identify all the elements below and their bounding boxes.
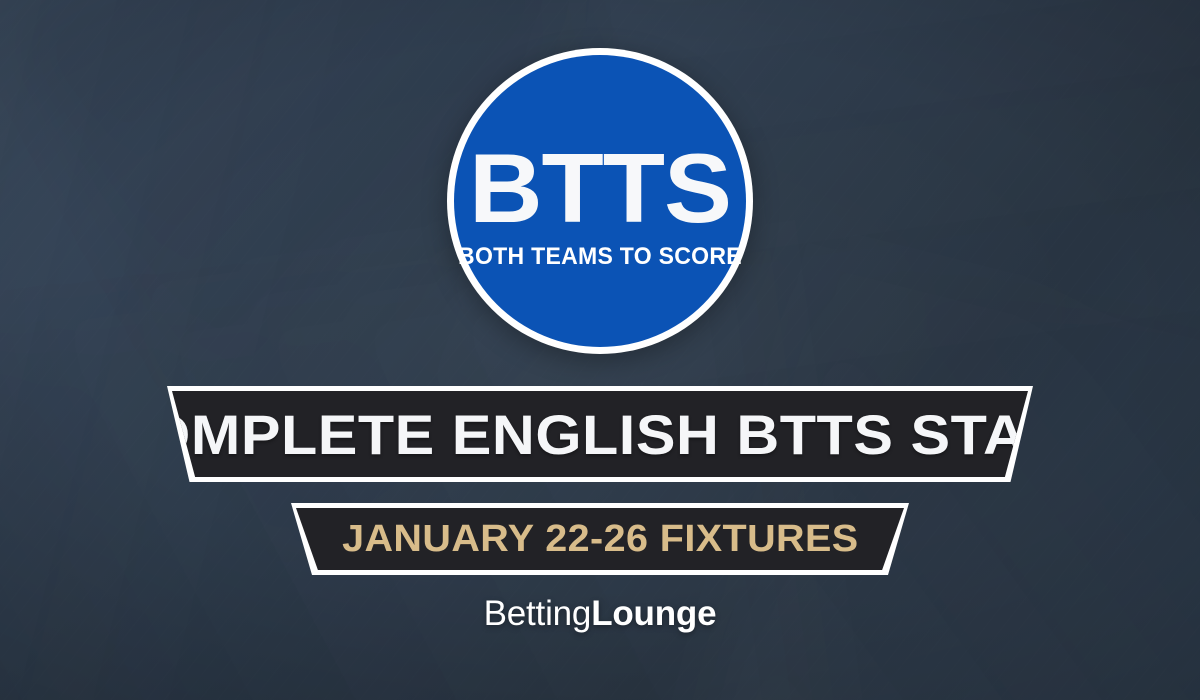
page-subtitle: JANUARY 22-26 FIXTURES	[342, 518, 858, 561]
subtitle-ribbon: JANUARY 22-26 FIXTURES	[291, 503, 909, 575]
subtitle-ribbon-fill: JANUARY 22-26 FIXTURES	[296, 508, 904, 570]
badge-sub-label: BOTH TEAMS TO SCORE	[458, 243, 742, 271]
badge-main-label: BTTS	[469, 143, 731, 233]
title-ribbon: COMPLETE ENGLISH BTTS STATS	[167, 386, 1033, 482]
badge-ring: BTTS BOTH TEAMS TO SCORE	[447, 48, 753, 354]
page-title: COMPLETE ENGLISH BTTS STATS	[101, 402, 1099, 467]
title-ribbon-fill: COMPLETE ENGLISH BTTS STATS	[172, 391, 1028, 477]
badge-disc: BTTS BOTH TEAMS TO SCORE	[454, 55, 746, 347]
brand-logo-first: Betting	[484, 594, 592, 633]
brand-logo: BettingLounge	[484, 596, 717, 631]
btts-badge: BTTS BOTH TEAMS TO SCORE	[447, 48, 753, 354]
brand-logo-second: Lounge	[591, 594, 716, 633]
promo-graphic: BTTS BOTH TEAMS TO SCORE COMPLETE ENGLIS…	[0, 0, 1200, 700]
